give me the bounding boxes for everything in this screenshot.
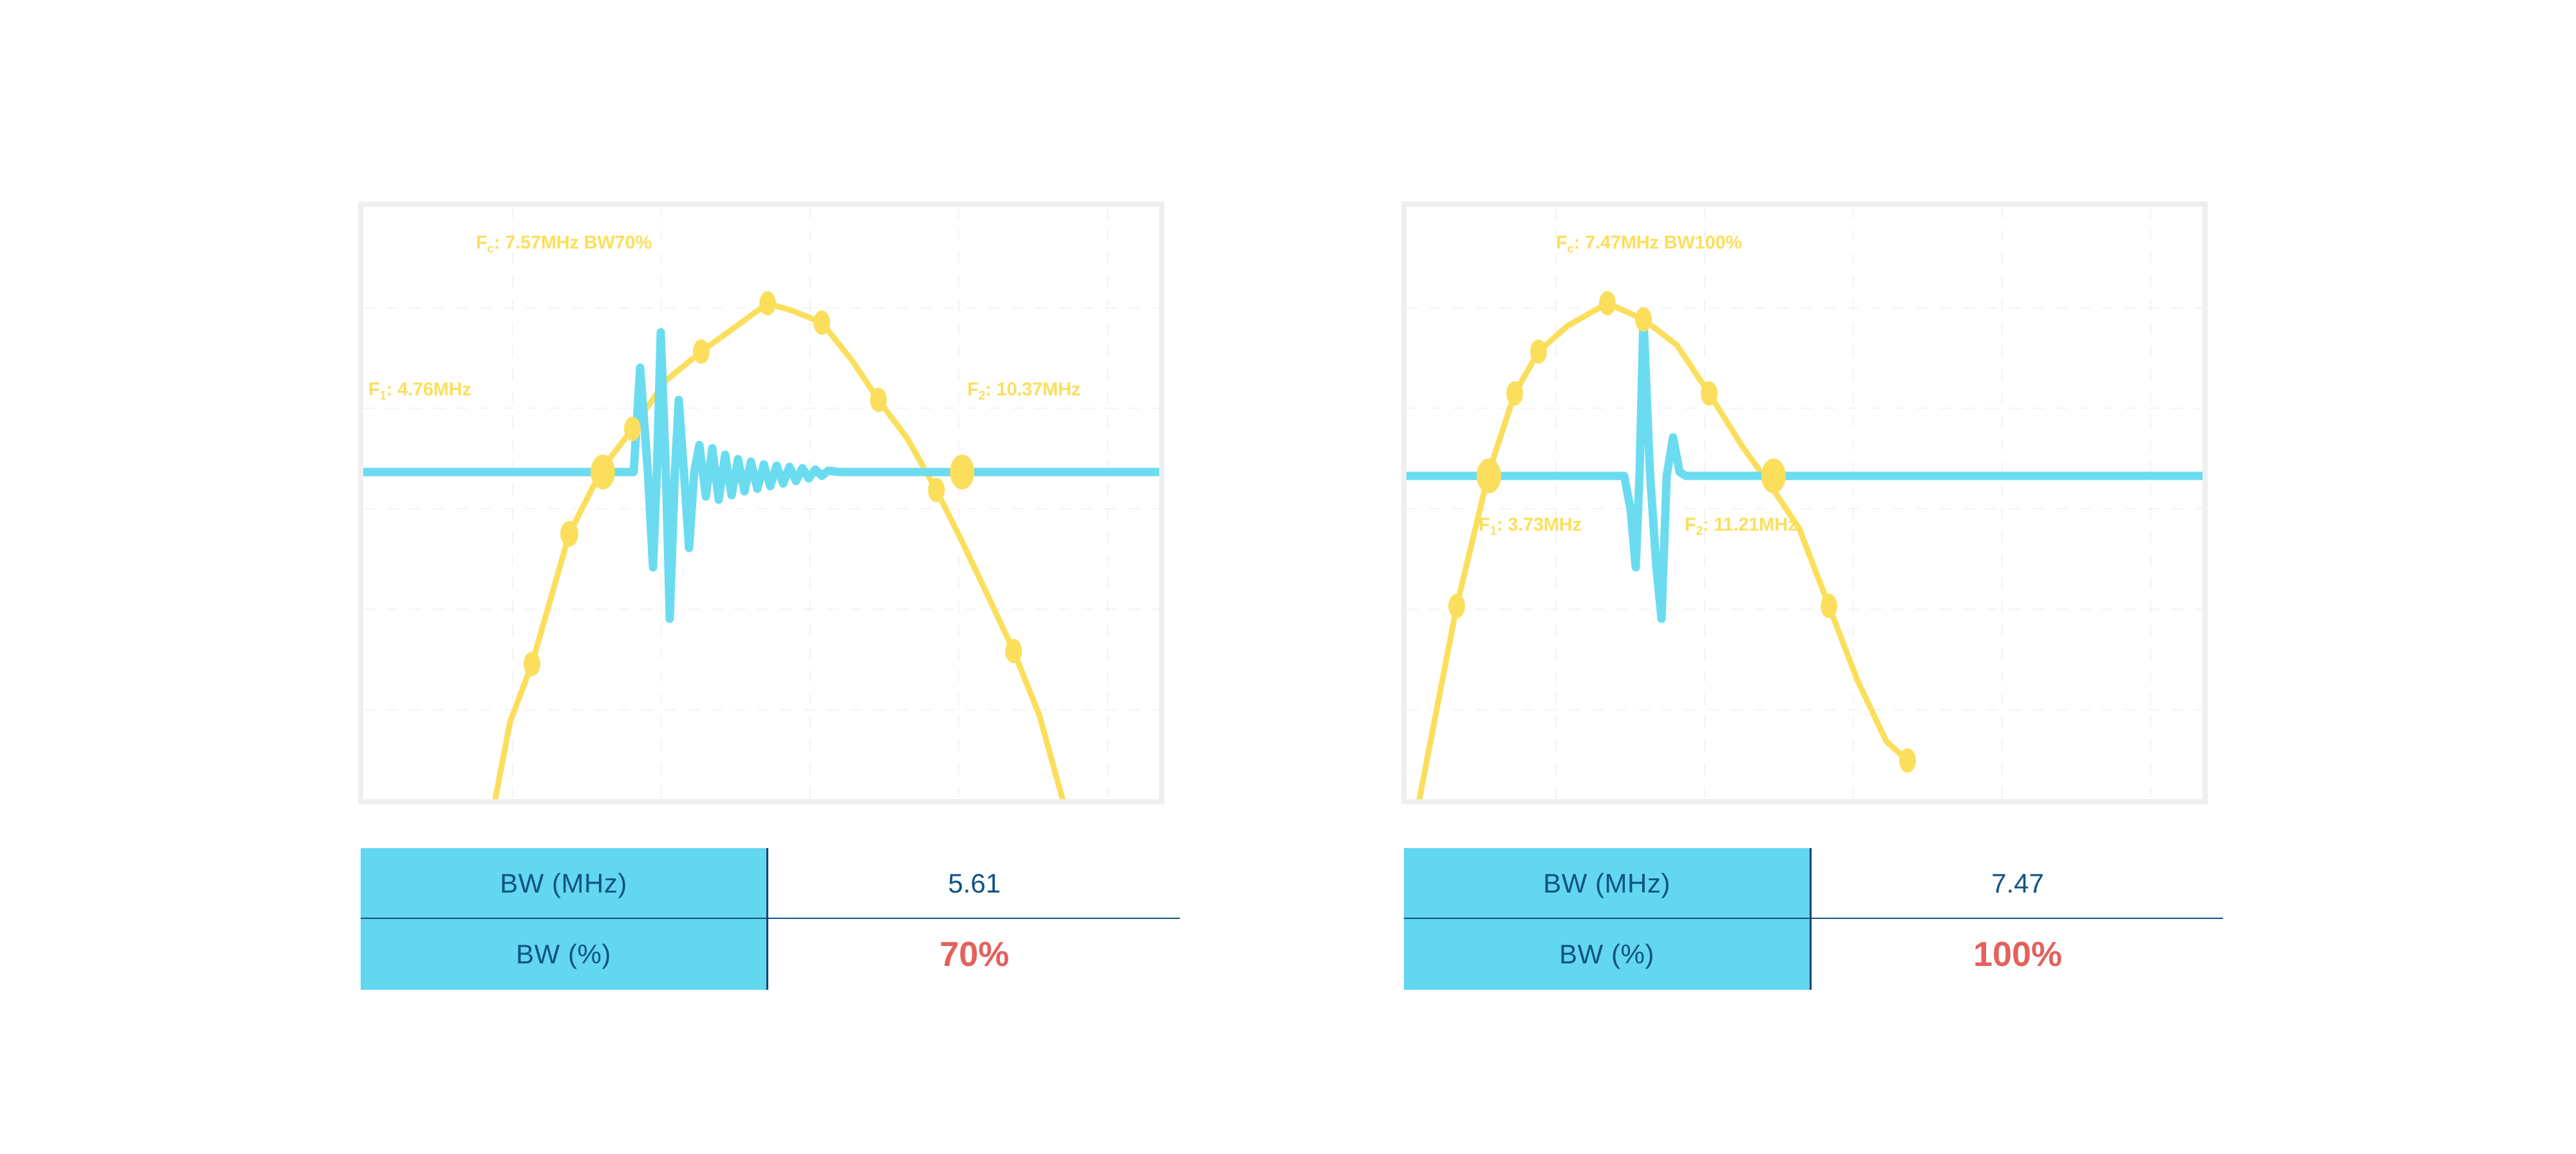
- panel-left: Fc: 7.57MHz BW70% F1: 4.76MHz F2: 10.37M…: [348, 0, 1185, 1154]
- upper-cutoff-label: F2: 10.37MHz: [967, 379, 1081, 404]
- table-column-divider: [766, 848, 768, 990]
- table-row: BW (%) 100%: [1404, 919, 2226, 990]
- lower-cutoff-label: F1: 4.76MHz: [368, 379, 471, 404]
- chart-plot-area-right: Fc: 7.47MHz BW100% F1: 3.73MHz F2: 11.21…: [1406, 207, 2202, 799]
- table-row: BW (%) 70%: [361, 919, 1182, 990]
- pulse-waveform: [1406, 317, 2202, 619]
- fc-prefix: F: [1556, 232, 1567, 253]
- transducer-bandwidth-comparison: Fc: 7.57MHz BW70% F1: 4.76MHz F2: 10.37M…: [0, 0, 2576, 1154]
- center-frequency-label: Fc: 7.57MHz BW70%: [476, 232, 652, 257]
- f1-subscript: 1: [1490, 525, 1497, 538]
- fc-text: : 7.47MHz BW100%: [1574, 232, 1742, 253]
- table-row: BW (MHz) 5.61: [361, 848, 1182, 919]
- fc-text: : 7.57MHz BW70%: [494, 232, 652, 253]
- table-key-bw-pct: BW (%): [1404, 919, 1810, 990]
- chart-frame-right: Fc: 7.47MHz BW100% F1: 3.73MHz F2: 11.21…: [1401, 202, 2208, 804]
- fc-subscript: c: [488, 243, 494, 256]
- table-value-bw-pct: 70%: [766, 919, 1182, 990]
- f1-text: : 4.76MHz: [386, 379, 471, 400]
- f2-subscript: 2: [979, 390, 985, 403]
- f2-subscript: 2: [1696, 525, 1703, 538]
- table-key-bw-mhz: BW (MHz): [361, 848, 766, 919]
- fc-subscript: c: [1567, 243, 1574, 256]
- bandwidth-table-left: BW (MHz) 5.61 BW (%) 70%: [361, 848, 1182, 990]
- f2-text: : 10.37MHz: [985, 379, 1081, 400]
- lower-cutoff-label: F1: 3.73MHz: [1479, 515, 1582, 539]
- f1-marker: [1477, 459, 1501, 493]
- upper-cutoff-label: F2: 11.21MHz: [1685, 515, 1797, 539]
- f1-prefix: F: [368, 379, 380, 400]
- f2-marker: [1761, 459, 1786, 493]
- table-value-bw-pct: 100%: [1810, 919, 2226, 990]
- table-key-bw-pct: BW (%): [361, 919, 766, 990]
- center-frequency-label: Fc: 7.47MHz BW100%: [1556, 232, 1742, 257]
- table-value-bw-mhz: 5.61: [766, 848, 1182, 919]
- chart-series-right: [1406, 207, 2202, 799]
- chart-plot-area-left: Fc: 7.57MHz BW70% F1: 4.76MHz F2: 10.37M…: [363, 207, 1159, 799]
- chart-series-left: [363, 207, 1159, 799]
- f1-prefix: F: [1479, 515, 1490, 535]
- chart-frame-left: Fc: 7.57MHz BW70% F1: 4.76MHz F2: 10.37M…: [358, 202, 1164, 804]
- f2-marker: [950, 455, 974, 489]
- table-column-divider: [1810, 848, 1812, 990]
- f1-subscript: 1: [380, 390, 386, 403]
- table-key-bw-mhz: BW (MHz): [1404, 848, 1810, 919]
- f1-marker: [591, 455, 615, 489]
- spectrum-curve: [495, 303, 1063, 799]
- fc-prefix: F: [476, 232, 488, 253]
- table-row: BW (MHz) 7.47: [1404, 848, 2226, 919]
- table-value-bw-mhz: 7.47: [1810, 848, 2226, 919]
- pulse-waveform: [363, 332, 1159, 619]
- f1-text: : 3.73MHz: [1497, 515, 1582, 535]
- f2-prefix: F: [967, 379, 979, 400]
- f2-prefix: F: [1685, 515, 1696, 535]
- panel-right: Fc: 7.47MHz BW100% F1: 3.73MHz F2: 11.21…: [1391, 0, 2228, 1154]
- bandwidth-table-right: BW (MHz) 7.47 BW (%) 100%: [1404, 848, 2226, 990]
- f2-text: : 11.21MHz: [1703, 515, 1797, 535]
